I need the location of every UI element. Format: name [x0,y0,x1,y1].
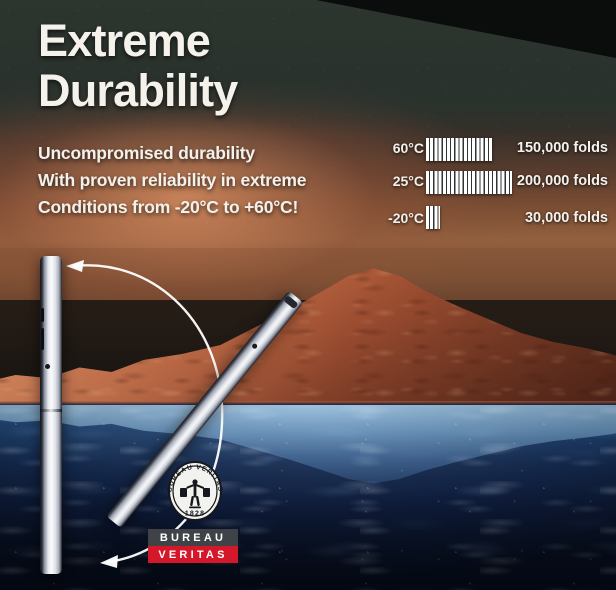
chart-bar [426,206,440,229]
hinge-seam [40,409,62,412]
chart-value-label: 200,000 folds [488,173,608,189]
body-line-3: Conditions from -20°C to +60°C! [38,194,378,221]
chart-value-label: 150,000 folds [488,140,608,156]
phone-folded-body [40,256,62,574]
chart-category-label: 60°C [378,140,424,156]
bureau-veritas-name-line-1: BUREAU [148,529,238,546]
svg-text:1828: 1828 [185,511,205,518]
chart-row: 25°C 200,000 folds [378,171,608,204]
chart-category-label: 25°C [378,173,424,189]
durability-poster: Extreme Durability Uncompromised durabil… [0,0,616,590]
chart-row: -20°C 30,000 folds [378,204,608,237]
body-line-2: With proven reliability in extreme [38,167,378,194]
power-button [41,328,44,350]
volume-button [41,308,44,322]
chart-bar-track [426,138,492,161]
camera-icon [251,343,258,350]
camera-icon [45,364,50,369]
chart-value-label: 30,000 folds [488,210,608,226]
page-title: Extreme Durability [38,16,458,116]
body-copy: Uncompromised durability With proven rel… [38,140,378,221]
bureau-veritas-badge: BUREAU VERITAS 1828 BUREAU VERITAS [148,458,242,563]
phone-top-bezel [283,295,298,309]
chart-row: 60°C 150,000 folds [378,138,608,171]
bureau-veritas-seal-icon: BUREAU VERITAS 1828 [162,458,228,524]
chart-bar [426,138,492,161]
chart-category-label: -20°C [378,210,424,226]
bureau-veritas-name-line-2: VERITAS [148,546,238,563]
chart-bar-track [426,206,440,229]
bureau-veritas-wordmark: BUREAU VERITAS [148,529,238,563]
fold-endurance-chart: 60°C 150,000 folds 25°C 200,000 folds -2… [378,138,608,237]
body-line-1: Uncompromised durability [38,140,378,167]
